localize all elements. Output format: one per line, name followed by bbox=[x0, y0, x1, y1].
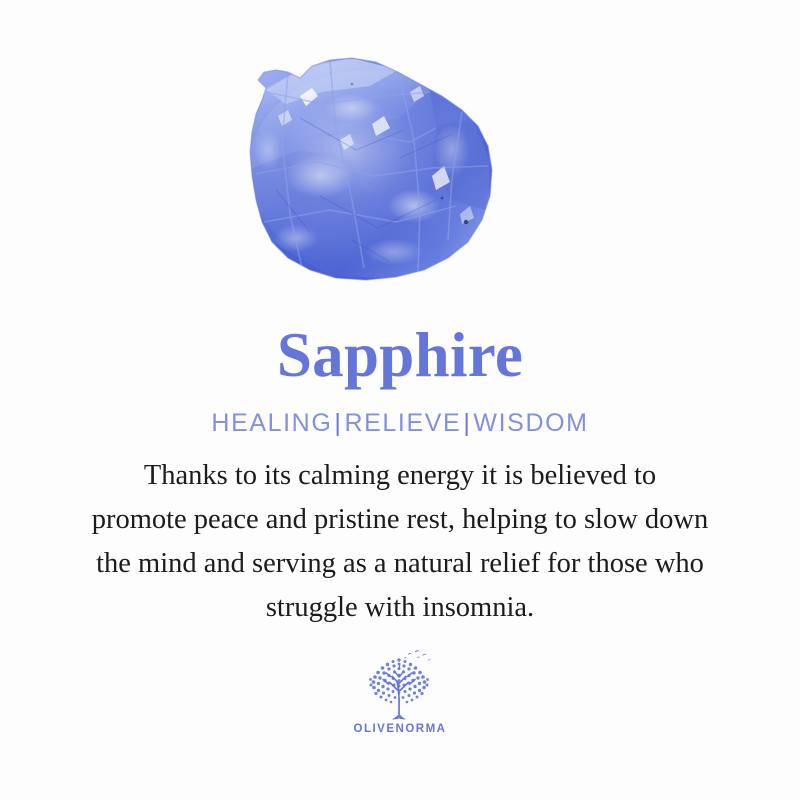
crystal-body bbox=[240, 50, 510, 300]
page-title: Sapphire bbox=[277, 318, 523, 392]
keyword-separator-1: | bbox=[332, 409, 344, 438]
description-line-2: promote peace and pristine rest, helping… bbox=[18, 498, 782, 542]
hero-image-container bbox=[0, 0, 800, 318]
keyword-healing: HEALING bbox=[211, 409, 332, 438]
keyword-list: HEALING | RELIEVE | WISDOM bbox=[211, 392, 588, 454]
sapphire-product-card: Sapphire HEALING | RELIEVE | WISDOM Than… bbox=[0, 0, 800, 800]
birds-icon bbox=[404, 650, 431, 660]
description-text: Thanks to its calming energy it is belie… bbox=[0, 454, 800, 630]
sapphire-crystal-image bbox=[0, 0, 800, 318]
brand-name: OLIVENORMA bbox=[354, 723, 447, 735]
keyword-separator-2: | bbox=[461, 409, 473, 438]
description-line-4: struggle with insomnia. bbox=[18, 586, 782, 630]
description-line-3: the mind and serving as a natural relief… bbox=[18, 542, 782, 586]
tree-of-life-icon bbox=[358, 648, 442, 722]
keyword-wisdom: WISDOM bbox=[473, 409, 588, 438]
keyword-relieve: RELIEVE bbox=[345, 409, 462, 438]
description-line-1: Thanks to its calming energy it is belie… bbox=[18, 454, 782, 498]
brand-logo: OLIVENORMA bbox=[354, 648, 447, 735]
